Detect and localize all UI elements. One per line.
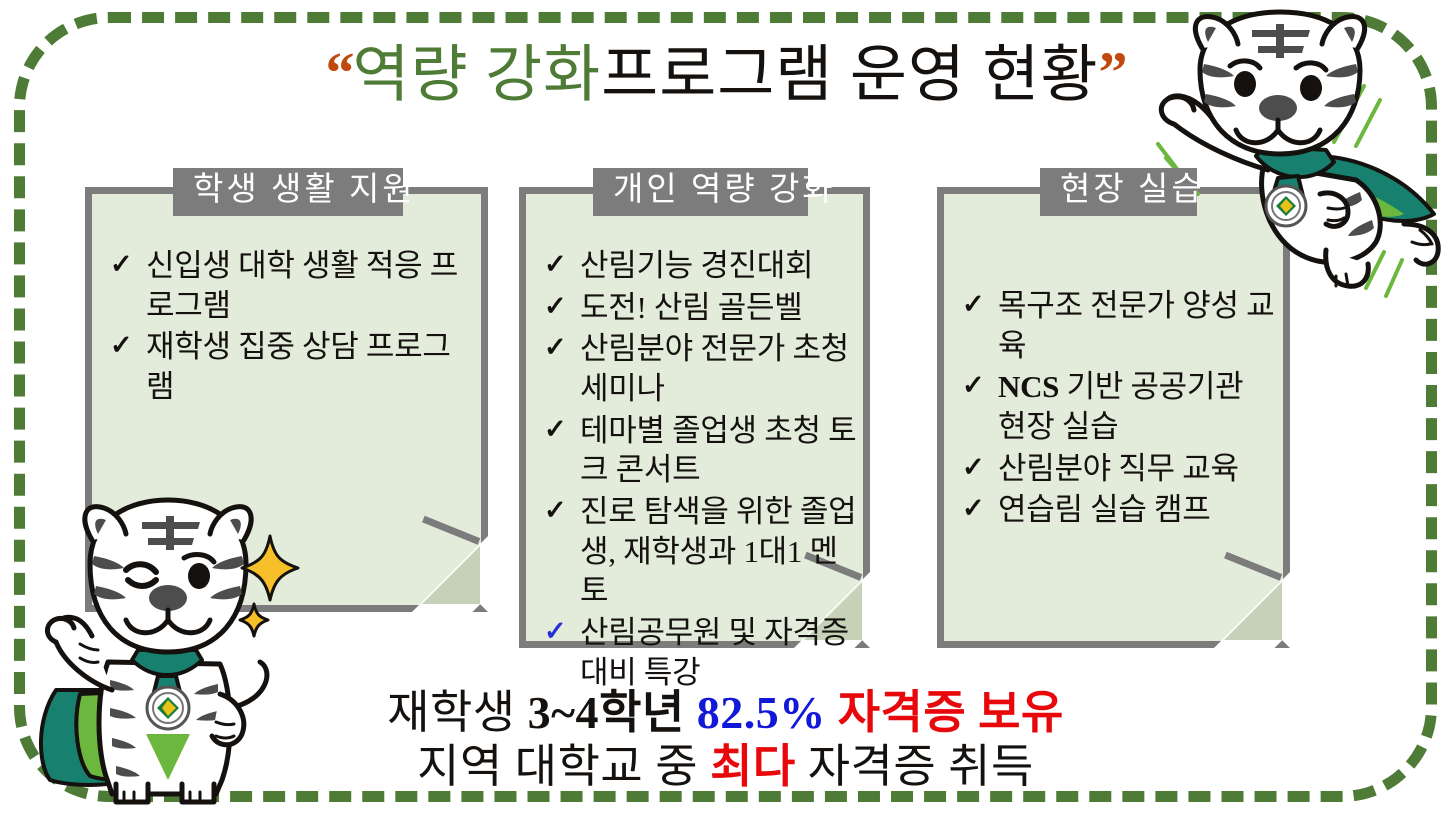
- check-icon: ✓: [544, 493, 566, 528]
- panel-2-list: ✓산림기능 경진대회 ✓도전! 산림 골든벨 ✓산림분야 전문가 초청 세미나 …: [540, 246, 857, 692]
- summary-stat-percentage: 82.5%: [697, 687, 826, 738]
- list-item: ✓산림분야 전문가 초청 세미나: [540, 329, 857, 408]
- list-item-highlighted: ✓산림공무원 및 자격증 대비 특강: [540, 613, 857, 692]
- summary-line2-emphasis: 최다: [710, 741, 796, 792]
- list-item-label: 진로 탐색을 위한 졸업생, 재학생과 1대1 멘토: [580, 494, 856, 608]
- summary-line1-part3: 학년: [599, 687, 697, 738]
- list-item-label: 산림기능 경진대회: [580, 248, 813, 283]
- list-item: ✓재학생 집중 상담 프로그램: [106, 327, 475, 406]
- title-rest: 프로그램 운영 현황: [601, 41, 1098, 109]
- page-title: “역량 강화프로그램 운영 현황”: [0, 44, 1451, 106]
- summary-line2-part3: 자격증 취득: [796, 741, 1034, 792]
- summary-line1-part1: 재학생: [387, 687, 527, 738]
- check-icon: ✓: [544, 330, 566, 365]
- check-icon: ✓: [544, 614, 566, 649]
- panel-field-practice: ✓목구조 전문가 양성 교육 ✓NCS 기반 공공기관 현장 실습 ✓산림분야 …: [937, 187, 1290, 648]
- check-icon: ✓: [110, 328, 132, 363]
- panel-1-header-label: 학생 생활 지원: [193, 172, 416, 208]
- panel-3-body: ✓목구조 전문가 양성 교육 ✓NCS 기반 공공기관 현장 실습 ✓산림분야 …: [944, 194, 1283, 532]
- summary-statistics: 재학생 3~4학년 82.5% 자격증 보유 지역 대학교 중 최다 자격증 취…: [0, 686, 1451, 795]
- panel-2-body: ✓산림기능 경진대회 ✓도전! 산림 골든벨 ✓산림분야 전문가 초청 세미나 …: [526, 194, 863, 694]
- list-item-label: 테마별 졸업생 초청 토크 콘서트: [580, 413, 856, 488]
- list-item-label: 산림분야 전문가 초청 세미나: [580, 331, 849, 406]
- panel-individual-capability: ✓산림기능 경진대회 ✓도전! 산림 골든벨 ✓산림분야 전문가 초청 세미나 …: [519, 187, 870, 648]
- slide-canvas: “역량 강화프로그램 운영 현황” ✓신입생 대학 생활 적응 프로그램 ✓재학…: [0, 0, 1451, 814]
- list-item: ✓진로 탐색을 위한 졸업생, 재학생과 1대1 멘토: [540, 492, 857, 611]
- check-icon: ✓: [544, 247, 566, 282]
- list-item-bold-prefix: NCS: [998, 369, 1059, 404]
- panel-student-life-support: ✓신입생 대학 생활 적응 프로그램 ✓재학생 집중 상담 프로그램: [85, 187, 488, 612]
- title-highlight: 역량 강화: [353, 41, 602, 109]
- check-icon: ✓: [962, 287, 984, 322]
- panel-fold-flap: [1224, 582, 1282, 640]
- open-quote-icon: “: [326, 40, 353, 105]
- list-item: ✓산림분야 직무 교육: [958, 449, 1277, 489]
- panel-3-list: ✓목구조 전문가 양성 교육 ✓NCS 기반 공공기관 현장 실습 ✓산림분야 …: [958, 286, 1277, 530]
- list-item-label: 신입생 대학 생활 적응 프로그램: [146, 248, 458, 323]
- panel-1-list: ✓신입생 대학 생활 적응 프로그램 ✓재학생 집중 상담 프로그램: [106, 246, 475, 407]
- panel-1-body: ✓신입생 대학 생활 적응 프로그램 ✓재학생 집중 상담 프로그램: [92, 194, 481, 409]
- check-icon: ✓: [544, 412, 566, 447]
- summary-line1-part5: 자격증 보유: [838, 687, 1064, 738]
- panel-fold-flap: [422, 546, 480, 604]
- check-icon: ✓: [962, 450, 984, 485]
- list-item-label: 목구조 전문가 양성 교육: [998, 288, 1274, 363]
- panel-2-header: 개인 역량 강화: [593, 168, 808, 216]
- list-item: ✓신입생 대학 생활 적응 프로그램: [106, 246, 475, 325]
- list-item: ✓목구조 전문가 양성 교육: [958, 286, 1277, 365]
- list-item: ✓테마별 졸업생 초청 토크 콘서트: [540, 411, 857, 490]
- summary-line-2: 지역 대학교 중 최다 자격증 취득: [0, 740, 1451, 794]
- spacer: [826, 687, 838, 738]
- list-item-label: 도전! 산림 골든벨: [580, 290, 802, 325]
- list-item-label: 재학생 집중 상담 프로그램: [146, 329, 451, 404]
- list-item-label: 연습림 실습 캠프: [998, 492, 1210, 527]
- check-icon: ✓: [544, 289, 566, 324]
- summary-line1-grade: 3~4: [528, 687, 599, 738]
- panel-1-header: 학생 생활 지원: [173, 168, 403, 216]
- check-icon: ✓: [962, 491, 984, 526]
- panel-3-header: 현장 실습: [1040, 168, 1197, 216]
- list-item-label: 산림분야 직무 교육: [998, 451, 1239, 486]
- list-item: ✓NCS 기반 공공기관 현장 실습: [958, 367, 1277, 446]
- summary-line-1: 재학생 3~4학년 82.5% 자격증 보유: [0, 686, 1451, 740]
- list-item: ✓도전! 산림 골든벨: [540, 288, 857, 328]
- list-item: ✓산림기능 경진대회: [540, 246, 857, 286]
- panel-2-header-label: 개인 역량 강화: [613, 172, 836, 208]
- summary-line2-part1: 지역 대학교 중: [417, 741, 710, 792]
- panel-3-header-label: 현장 실습: [1060, 172, 1205, 208]
- list-item: ✓연습림 실습 캠프: [958, 490, 1277, 530]
- list-item-label: 산림공무원 및 자격증 대비 특강: [580, 615, 849, 690]
- close-quote-icon: ”: [1099, 40, 1126, 105]
- check-icon: ✓: [110, 247, 132, 282]
- check-icon: ✓: [962, 368, 984, 403]
